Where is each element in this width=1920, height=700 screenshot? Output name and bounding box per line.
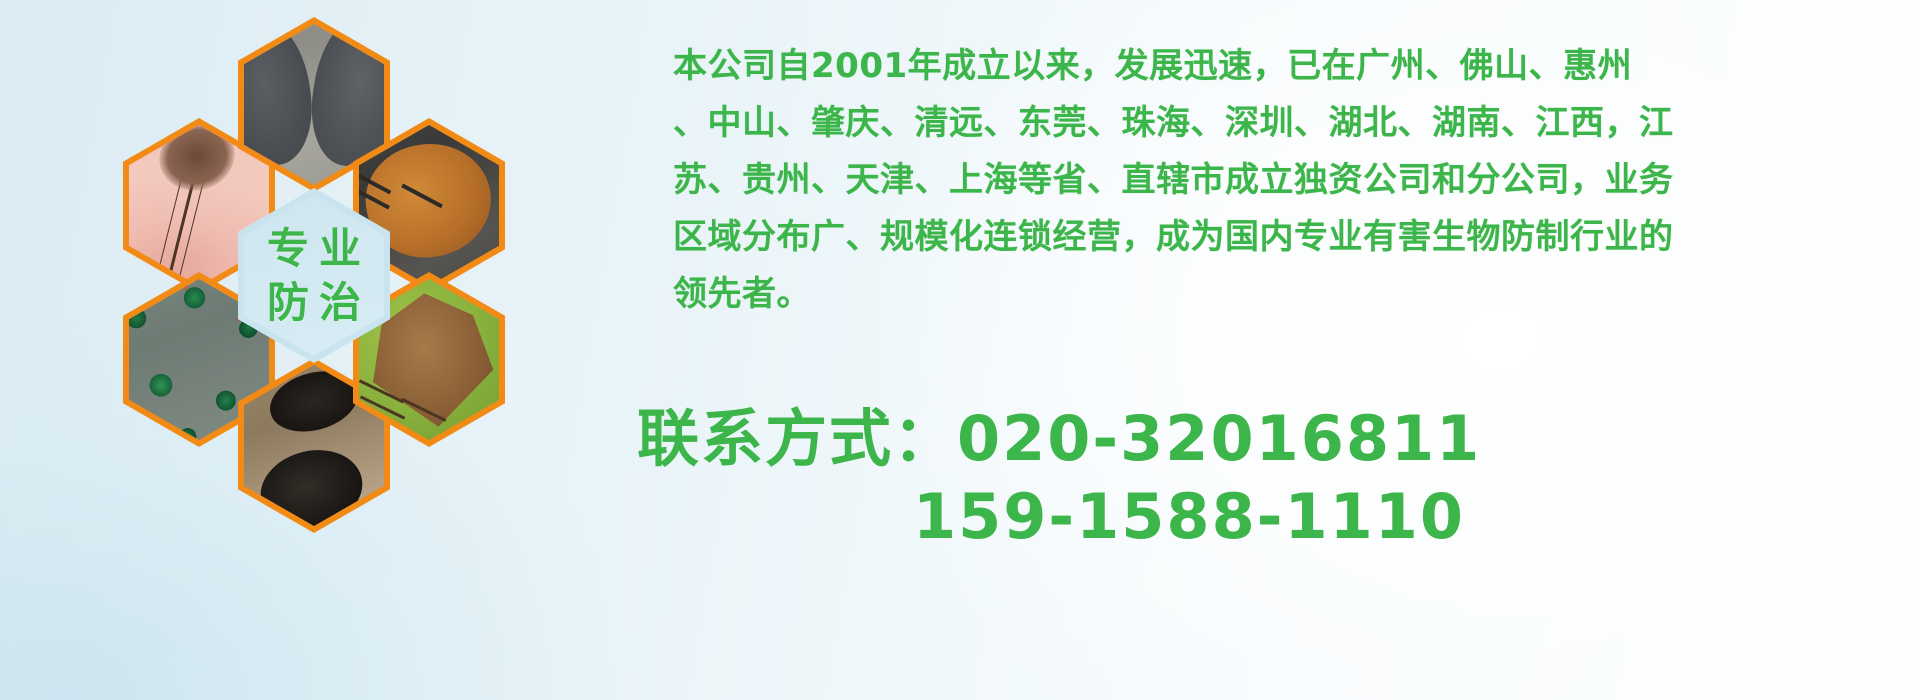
slogan-text: 专业 防治: [244, 195, 384, 356]
intro-line: 苏、贵州、天津、上海等省、直辖市成立独资公司和分公司，业务: [615, 152, 1905, 209]
contact-secondary-line: 159-1588-1110: [625, 478, 1915, 556]
pest-control-banner: 专业 防治 本公司自2001年成立以来，发展迅速，已在广州、佛山、惠州 、中山、…: [0, 0, 1920, 700]
contact-label: 联系方式：: [637, 402, 957, 475]
company-intro-paragraph: 本公司自2001年成立以来，发展迅速，已在广州、佛山、惠州 、中山、肇庆、清远、…: [615, 38, 1905, 323]
slogan-line-2: 防治: [257, 282, 371, 324]
intro-line: 、中山、肇庆、清远、东莞、珠海、深圳、湖北、湖南、江西，江: [615, 95, 1905, 152]
honeycomb-cluster: 专业 防治: [85, 8, 605, 568]
content-column: 本公司自2001年成立以来，发展迅速，已在广州、佛山、惠州 、中山、肇庆、清远、…: [615, 0, 1920, 700]
intro-line: 区域分布广、规模化连锁经营，成为国内专业有害生物防制行业的: [615, 209, 1905, 266]
contact-primary-line: 联系方式：020-32016811: [625, 400, 1915, 478]
phone-secondary[interactable]: 159-1588-1110: [913, 480, 1465, 553]
contact-block: 联系方式：020-32016811 159-1588-1110: [625, 400, 1915, 556]
phone-primary[interactable]: 020-32016811: [957, 402, 1481, 475]
slogan-line-1: 专业: [257, 228, 371, 270]
intro-line: 领先者。: [615, 266, 1905, 323]
intro-line: 本公司自2001年成立以来，发展迅速，已在广州、佛山、惠州: [615, 38, 1905, 95]
hex-inner: 专业 防治: [244, 195, 384, 356]
